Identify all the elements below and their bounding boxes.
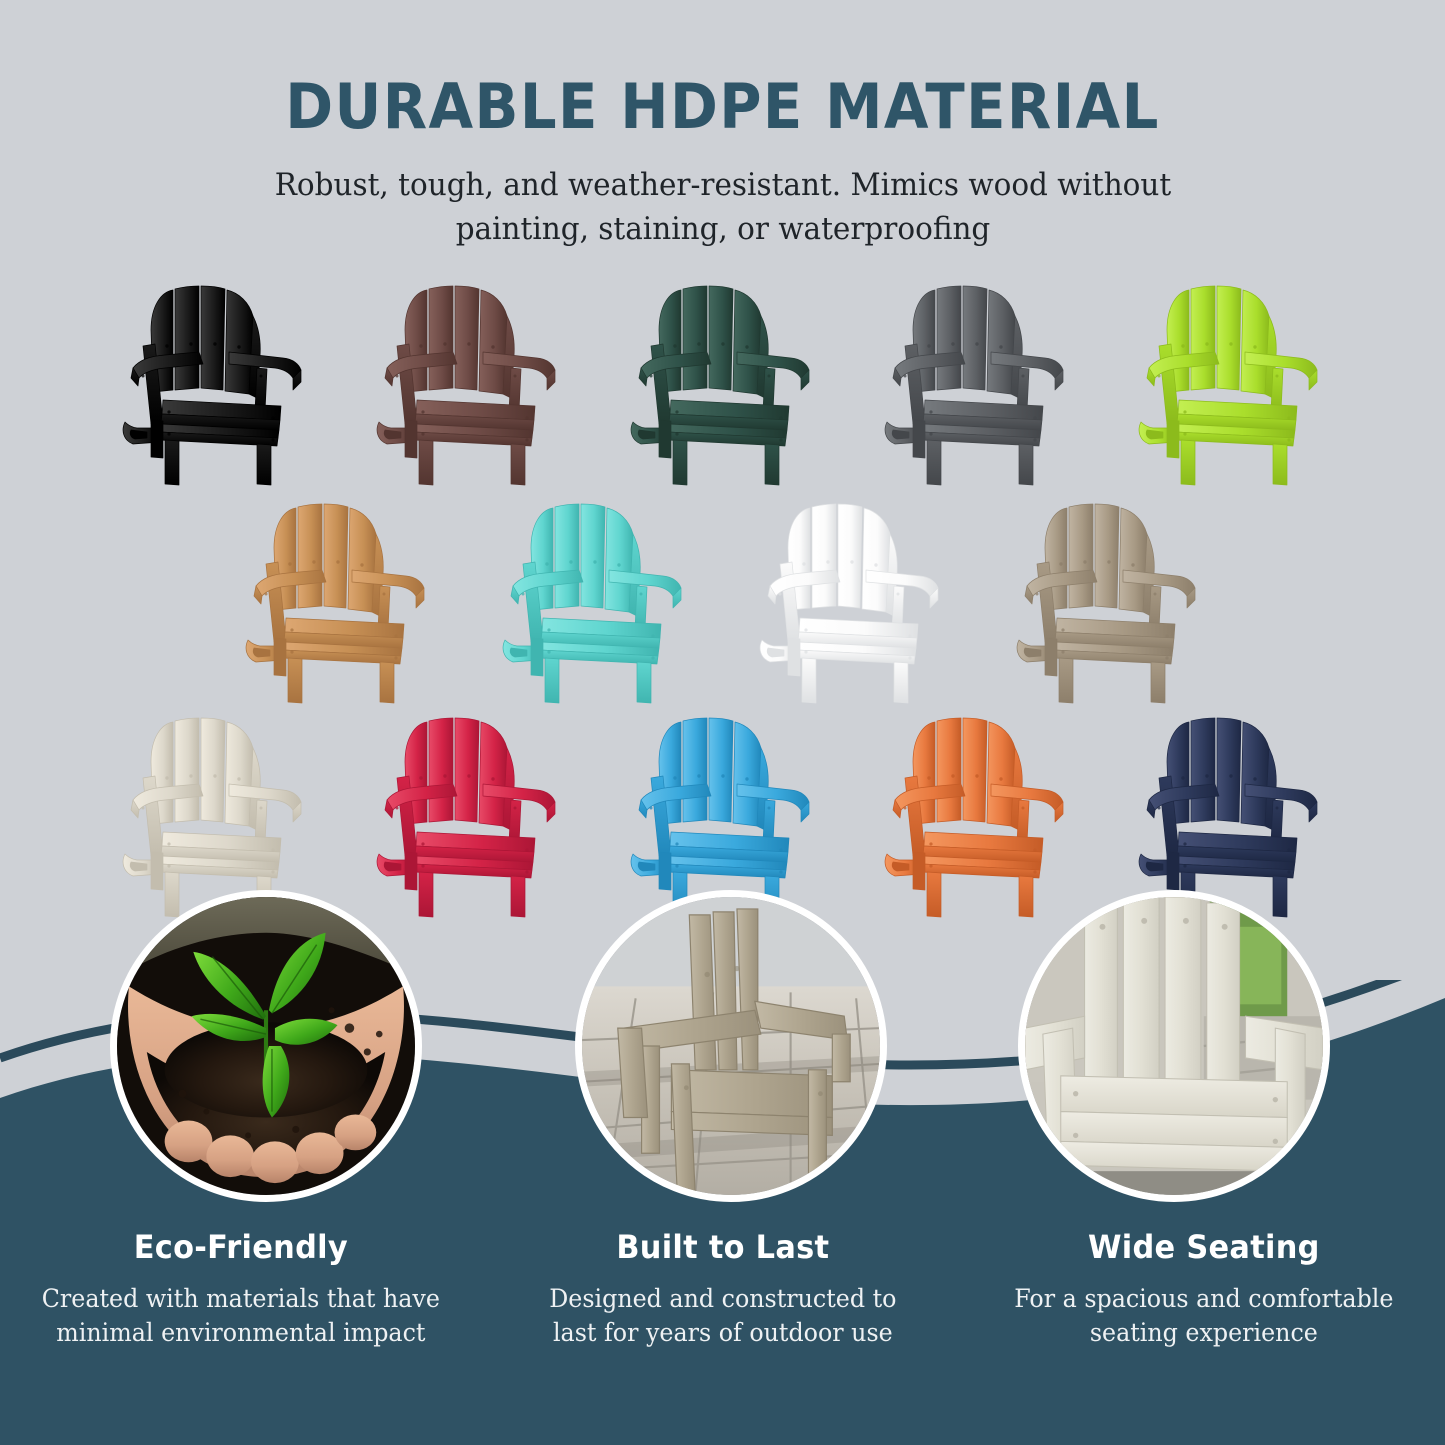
- chair-swatch-gray[interactable]: [869, 272, 1084, 487]
- chair-art: [615, 704, 830, 919]
- chair-swatch-ivory[interactable]: [107, 704, 322, 919]
- feature-desc-line-1: For a spacious and comfortable: [989, 1282, 1420, 1316]
- chair-row-2: [0, 490, 1445, 705]
- chair-swatch-white[interactable]: [744, 490, 959, 705]
- feature-desc-line-1: Created with materials that have: [25, 1282, 456, 1316]
- chair-art: [869, 272, 1084, 487]
- feature-wide-seating: Wide Seating For a spacious and comforta…: [963, 1228, 1445, 1350]
- built-to-last-photo: [575, 890, 887, 1202]
- chair-swatch-teak[interactable]: [230, 490, 445, 705]
- feature-title: Eco-Friendly: [25, 1228, 456, 1266]
- chair-swatch-weathered-wood[interactable]: [1001, 490, 1216, 705]
- feature-title: Wide Seating: [989, 1228, 1420, 1266]
- wide-seating-photo: [1018, 890, 1330, 1202]
- chair-art: [1123, 272, 1338, 487]
- chair-swatch-lime-green[interactable]: [1123, 272, 1338, 487]
- page-title: DURABLE HDPE MATERIAL: [51, 74, 1395, 139]
- chair-art: [361, 272, 576, 487]
- chair-art: [744, 490, 959, 705]
- chair-swatch-red[interactable]: [361, 704, 576, 919]
- header-block: DURABLE HDPE MATERIAL Robust, tough, and…: [0, 0, 1445, 251]
- chair-row-3: [0, 704, 1445, 919]
- feature-desc-line-2: last for years of outdoor use: [507, 1316, 938, 1350]
- feature-desc-line-2: minimal environmental impact: [25, 1316, 456, 1350]
- chair-row-1: [0, 272, 1445, 487]
- subtitle-line-2: painting, staining, or waterproofing: [248, 207, 1198, 251]
- wide-seat-closeup-art: [1025, 897, 1323, 1195]
- page-subtitle: Robust, tough, and weather-resistant. Mi…: [248, 163, 1198, 251]
- chair-art: [1001, 490, 1216, 705]
- patio-chair-art: [582, 897, 880, 1195]
- chair-swatch-black[interactable]: [107, 272, 322, 487]
- chair-art: [361, 704, 576, 919]
- chair-art: [107, 704, 322, 919]
- chair-swatch-navy-blue[interactable]: [1123, 704, 1338, 919]
- chair-art: [615, 272, 830, 487]
- feature-desc-line-2: seating experience: [989, 1316, 1420, 1350]
- chair-art: [107, 272, 322, 487]
- feature-eco-friendly: Eco-Friendly Created with materials that…: [0, 1228, 482, 1350]
- feature-title: Built to Last: [507, 1228, 938, 1266]
- chair-swatch-turquoise[interactable]: [487, 490, 702, 705]
- chair-art: [1123, 704, 1338, 919]
- feature-description: Designed and constructed to last for yea…: [507, 1282, 938, 1350]
- eco-friendly-photo: [110, 890, 422, 1202]
- chair-swatch-orange[interactable]: [869, 704, 1084, 919]
- chair-art: [230, 490, 445, 705]
- feature-built-to-last: Built to Last Designed and constructed t…: [482, 1228, 964, 1350]
- feature-description: Created with materials that have minimal…: [25, 1282, 456, 1350]
- subtitle-line-1: Robust, tough, and weather-resistant. Mi…: [248, 163, 1198, 207]
- chair-swatch-brown[interactable]: [361, 272, 576, 487]
- infographic-page: DURABLE HDPE MATERIAL Robust, tough, and…: [0, 0, 1445, 1445]
- features-row: Eco-Friendly Created with materials that…: [0, 1228, 1445, 1350]
- seedling-in-hands-art: [117, 897, 415, 1195]
- feature-description: For a spacious and comfortable seating e…: [989, 1282, 1420, 1350]
- feature-photo-row: [0, 890, 1445, 1220]
- chair-color-grid: [0, 272, 1445, 912]
- feature-desc-line-1: Designed and constructed to: [507, 1282, 938, 1316]
- chair-swatch-light-blue[interactable]: [615, 704, 830, 919]
- chair-art: [869, 704, 1084, 919]
- chair-swatch-dark-green[interactable]: [615, 272, 830, 487]
- chair-art: [487, 490, 702, 705]
